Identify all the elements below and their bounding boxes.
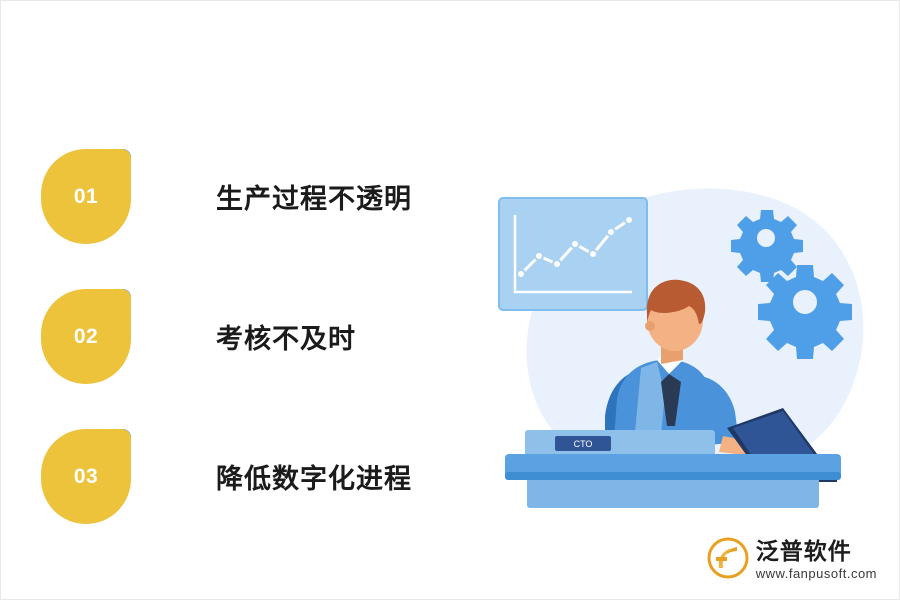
brand-name: 泛普软件	[756, 539, 877, 563]
brand-text: 泛普软件 www.fanpusoft.com	[756, 537, 877, 581]
badge-number: 01	[74, 185, 98, 209]
list-item[interactable]: 03 降低数字化进程	[41, 429, 461, 524]
wall-chart-panel	[499, 198, 647, 310]
badge-02: 02	[41, 289, 131, 384]
badge-number: 03	[74, 465, 98, 489]
desk-plate-label: CTO	[574, 439, 593, 449]
badge-number: 02	[74, 325, 98, 349]
list-item-label: 降低数字化进程	[216, 429, 412, 524]
slide-root: 01 生产过程不透明 02 考核不及时 03 降低数字化进程	[0, 0, 900, 600]
list-item-label: 考核不及时	[216, 289, 356, 384]
badge-blob-shape: 02	[41, 289, 131, 384]
badge-03: 03	[41, 429, 131, 524]
brand-url: www.fanpusoft.com	[756, 566, 877, 581]
badge-blob-shape: 01	[41, 149, 131, 244]
list-item[interactable]: 01 生产过程不透明	[41, 149, 461, 244]
list-item[interactable]: 02 考核不及时	[41, 289, 461, 384]
badge-blob-shape: 03	[41, 429, 131, 524]
brand-logo[interactable]: 泛普软件 www.fanpusoft.com	[707, 537, 877, 581]
badge-01: 01	[41, 149, 131, 244]
illustration: CTO	[471, 136, 871, 526]
list-item-label: 生产过程不透明	[216, 149, 412, 244]
numbered-list: 01 生产过程不透明 02 考核不及时 03 降低数字化进程	[41, 149, 461, 569]
fanpu-logo-icon	[707, 537, 749, 579]
